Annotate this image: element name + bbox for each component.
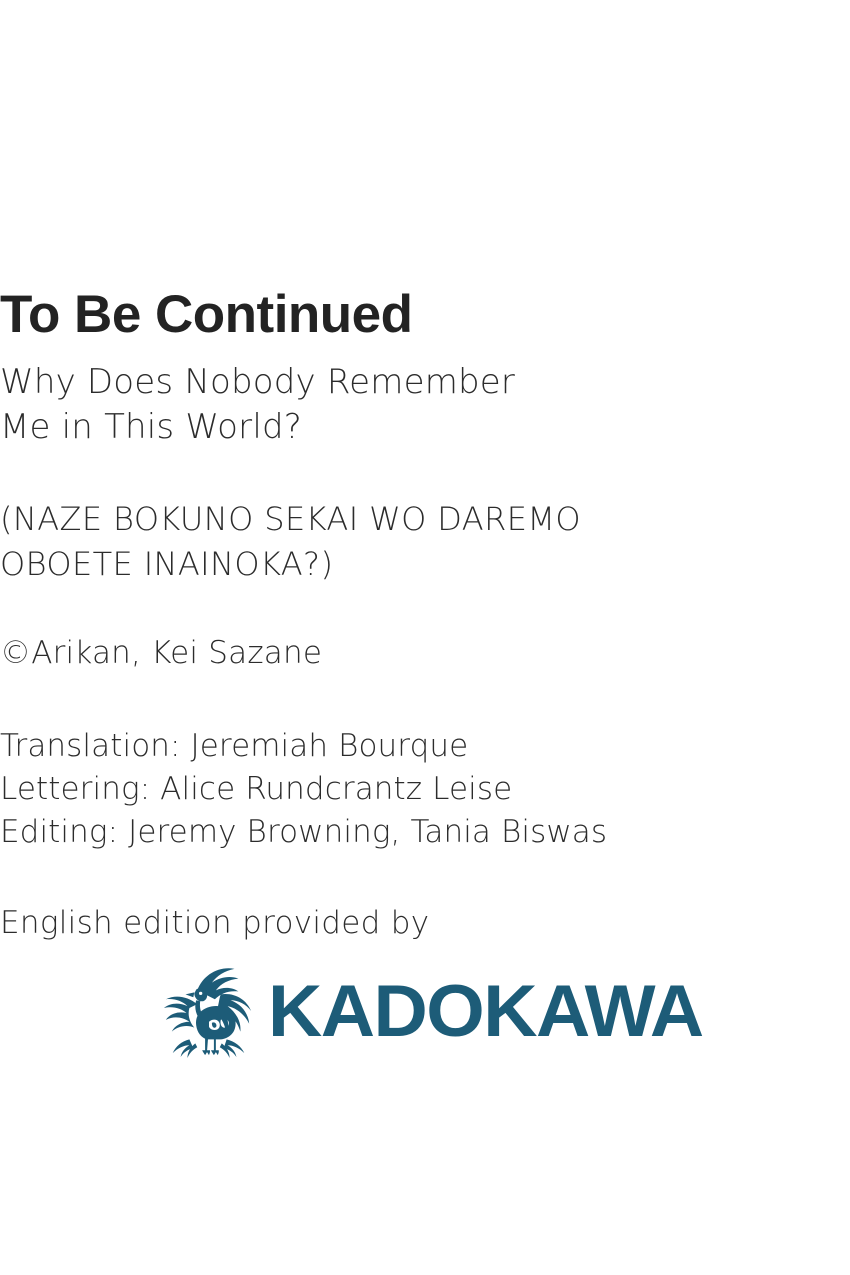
romanized-title: (NAZE BOKUNO SEKAI WO DAREMO OBOETE INAI… <box>0 497 850 587</box>
series-title-line-1: Why Does Nobody Remember <box>0 360 850 405</box>
to-be-continued-heading: To Be Continued <box>0 286 850 344</box>
credits-block: Translation: Jeremiah Bourque Lettering:… <box>0 725 850 854</box>
provided-by-label: English edition provided by <box>0 903 850 943</box>
kadokawa-wordmark: KADOKAWA <box>268 975 703 1048</box>
credit-translation: Translation: Jeremiah Bourque <box>0 725 850 768</box>
copyright-notice: ©Arikan, Kei Sazane <box>0 633 850 673</box>
credit-editing: Editing: Jeremy Browning, Tania Biswas <box>0 811 850 854</box>
end-card-page: To Be Continued Why Does Nobody Remember… <box>0 0 850 1275</box>
credit-lettering: Lettering: Alice Rundcrantz Leise <box>0 768 850 811</box>
phoenix-icon <box>160 961 258 1061</box>
romanized-title-line-2: OBOETE INAINOKA?) <box>0 542 850 587</box>
publisher-logo: KADOKAWA <box>0 958 850 1063</box>
romanized-title-line-1: (NAZE BOKUNO SEKAI WO DAREMO <box>0 497 850 542</box>
series-title: Why Does Nobody Remember Me in This Worl… <box>0 360 850 450</box>
series-title-line-2: Me in This World? <box>0 405 850 450</box>
